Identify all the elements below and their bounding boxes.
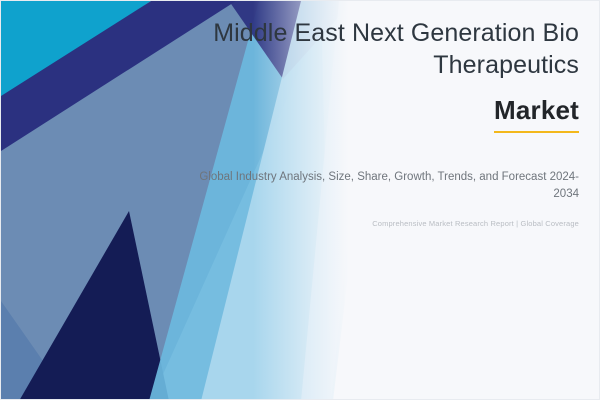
report-subtitle: Global Industry Analysis, Size, Share, G… [179,169,579,203]
market-label: Market [494,95,579,133]
report-tagline: Comprehensive Market Research Report | G… [179,219,579,230]
cover-text-column: Middle East Next Generation Bio Therapeu… [179,17,579,230]
report-cover: Middle East Next Generation Bio Therapeu… [0,0,600,400]
market-label-wrapper: Market [179,95,579,133]
page-title: Middle East Next Generation Bio Therapeu… [179,17,579,81]
